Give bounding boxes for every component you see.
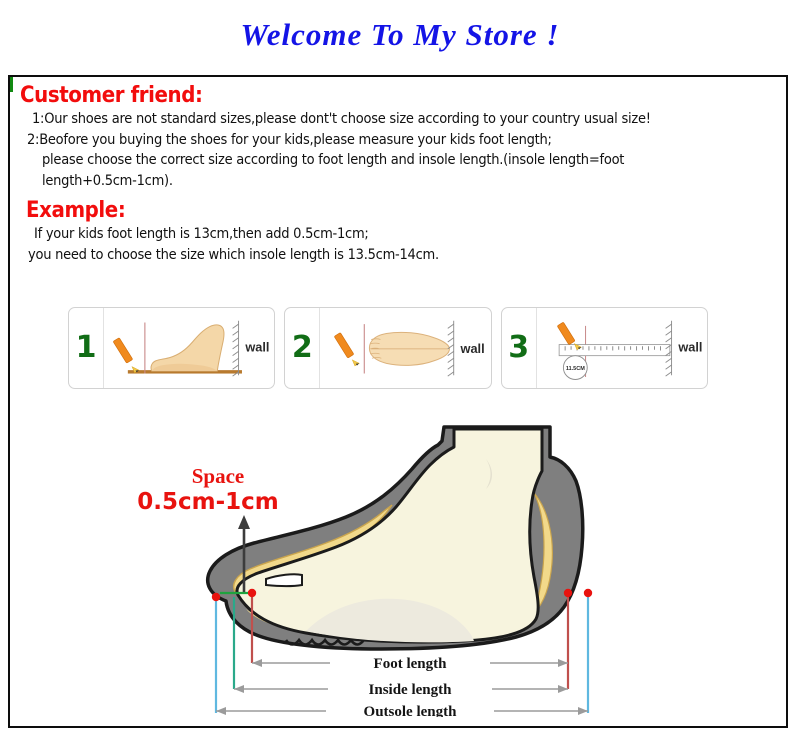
wall-icon [233, 321, 239, 376]
step-panel-1: 1 [68, 307, 275, 389]
step-number-cell-2: 2 [285, 308, 320, 388]
notice-line-1: 1:Our shoes are not standard sizes,pleas… [10, 109, 788, 130]
notice-line-3: please choose the correct size according… [10, 150, 788, 171]
outsole-length-label: Outsole length [364, 704, 458, 717]
space-label-line1: Space [192, 464, 245, 488]
example-heading: Example: [10, 198, 788, 224]
anchor-dot [248, 589, 256, 597]
measure-row-foot-length: Foot length [252, 656, 568, 672]
wall-label-2: wall [460, 341, 485, 356]
step-number-cell-3: 3 [502, 308, 537, 388]
step-number-1: 1 [76, 333, 97, 363]
foot-length-label: Foot length [374, 656, 448, 672]
measure-steps: 1 [68, 307, 708, 389]
step-illustration-2: wall [320, 308, 490, 388]
instructions-block: Customer friend: 1:Our shoes are not sta… [10, 83, 788, 265]
page-title: Welcome To My Store ! [241, 17, 560, 53]
step-number-2: 2 [292, 333, 313, 363]
anchor-dot [564, 589, 572, 597]
notice-line-2: 2:Beofore you buying the shoes for your … [10, 130, 788, 151]
step-panel-2: 2 [284, 307, 491, 389]
store-title-banner: Welcome To My Store ! [0, 0, 800, 70]
customer-friend-heading: Customer friend: [10, 83, 788, 109]
wall-label-1: wall [244, 339, 269, 354]
inside-length-label: Inside length [369, 682, 453, 698]
notice-line-4: length+0.5cm-1cm). [10, 171, 788, 192]
step-number-cell-1: 1 [69, 308, 104, 388]
step-number-3: 3 [508, 333, 529, 363]
magnifier-icon: 11.5CM [563, 356, 587, 380]
step-illustration-1: wall [104, 308, 274, 388]
step-panel-3: 3 [501, 307, 708, 389]
pencil-icon [113, 338, 139, 373]
wall-label-3: wall [677, 339, 702, 354]
shoe-cross-section-diagram: Space 0.5cm-1cm [130, 397, 690, 717]
step-illustration-3: 11.5CM [537, 308, 707, 388]
size-guide-page: Welcome To My Store ! Customer friend: 1… [0, 0, 800, 735]
example-line-1: If your kids foot length is 13cm,then ad… [10, 224, 788, 245]
pencil-icon [335, 333, 360, 366]
ruler-reading: 11.5CM [565, 366, 584, 372]
measure-row-inside-length: Inside length [234, 682, 568, 698]
example-line-2: you need to choose the size which insole… [10, 245, 788, 266]
space-label-line2: 0.5cm-1cm [137, 489, 279, 515]
size-guide-frame: Customer friend: 1:Our shoes are not sta… [8, 75, 788, 728]
anchor-dot [584, 589, 592, 597]
wall-icon [448, 321, 454, 376]
anchor-dot [212, 593, 220, 601]
measure-row-outsole-length: Outsole length [216, 704, 588, 717]
